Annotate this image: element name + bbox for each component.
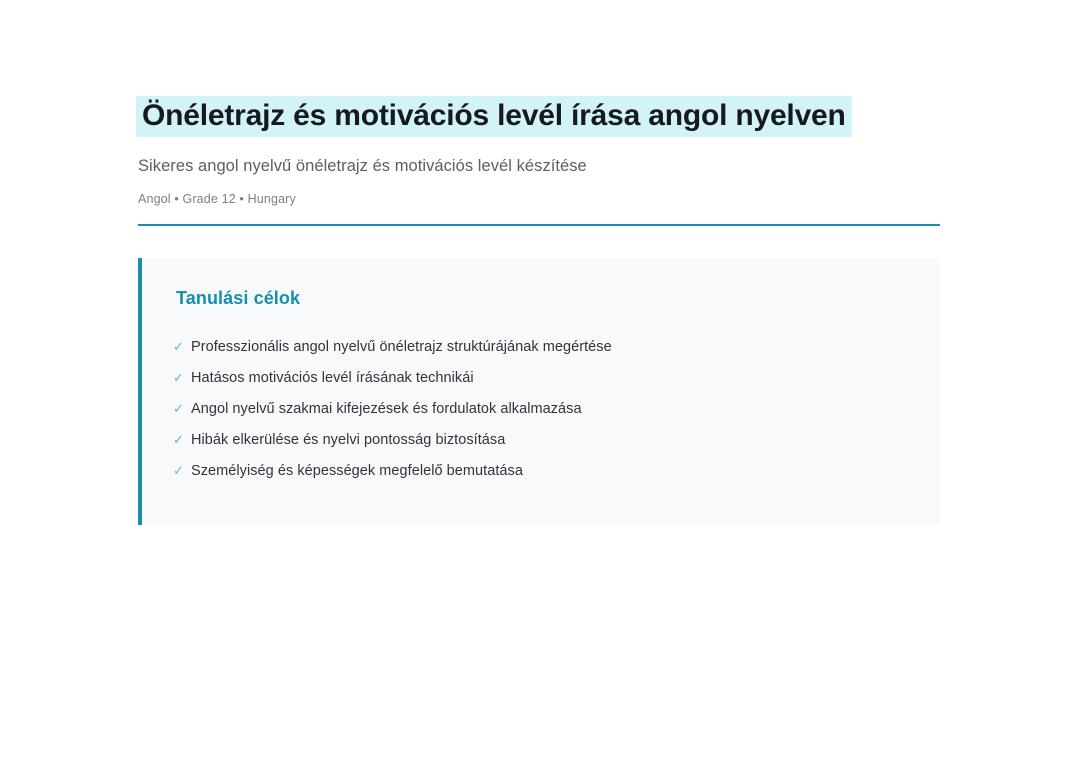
check-icon: ✓: [173, 433, 191, 446]
check-icon: ✓: [173, 340, 191, 353]
document-page: Önéletrajz és motivációs levél írása ang…: [0, 0, 1080, 763]
learning-objectives-heading: Tanulási célok: [176, 288, 940, 309]
learning-objectives-card: Tanulási célok ✓ Professzionális angol n…: [138, 258, 940, 525]
page-title-wrapper: Önéletrajz és motivációs levél írása ang…: [138, 96, 940, 136]
list-item-label: Hibák elkerülése és nyelvi pontosság biz…: [191, 430, 505, 450]
list-item-label: Professzionális angol nyelvű önéletrajz …: [191, 337, 612, 357]
check-icon: ✓: [173, 402, 191, 415]
list-item: ✓ Angol nyelvű szakmai kifejezések és fo…: [173, 399, 940, 430]
check-icon: ✓: [173, 464, 191, 477]
check-icon: ✓: [173, 371, 191, 384]
list-item-label: Személyiség és képességek megfelelő bemu…: [191, 461, 523, 481]
header-divider: [138, 224, 940, 226]
list-item: ✓ Hatásos motivációs levél írásának tech…: [173, 368, 940, 399]
list-item: ✓ Személyiség és képességek megfelelő be…: [173, 461, 940, 492]
list-item-label: Hatásos motivációs levél írásának techni…: [191, 368, 474, 388]
list-item: ✓ Hibák elkerülése és nyelvi pontosság b…: [173, 430, 940, 461]
document-content: Önéletrajz és motivációs levél írása ang…: [138, 96, 940, 525]
list-item: ✓ Professzionális angol nyelvű önéletraj…: [173, 337, 940, 368]
page-title: Önéletrajz és motivációs levél írása ang…: [136, 96, 852, 137]
list-item-label: Angol nyelvű szakmai kifejezések és ford…: [191, 399, 582, 419]
card-accent-bar: [138, 258, 142, 525]
breadcrumb: Angol • Grade 12 • Hungary: [138, 192, 940, 206]
learning-objectives-list: ✓ Professzionális angol nyelvű önéletraj…: [138, 337, 940, 492]
page-subtitle: Sikeres angol nyelvű önéletrajz és motiv…: [138, 157, 940, 176]
